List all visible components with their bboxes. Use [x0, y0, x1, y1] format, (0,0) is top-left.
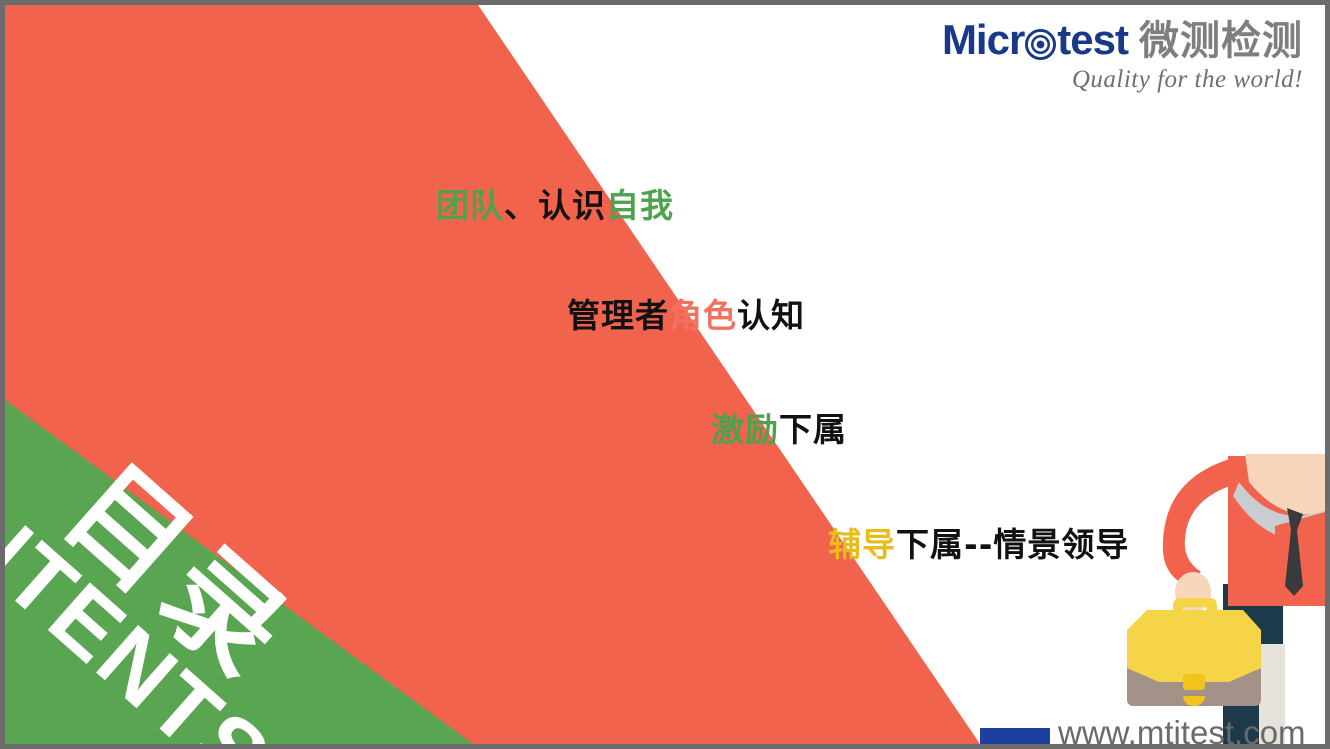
logo-ring-o-icon: [1025, 29, 1056, 60]
agenda-item-3-part-2: 下属: [779, 410, 847, 449]
footer-url[interactable]: www.mtitest.com: [1058, 714, 1306, 749]
logo-text-test: test: [1057, 19, 1128, 61]
businessman-illustration: [1125, 434, 1325, 744]
agenda-item-1[interactable]: 团队、认识自我: [436, 179, 674, 227]
logo-wordmark-latin: Micr test: [942, 19, 1128, 61]
agenda-item-1-part-3: 自我: [606, 186, 674, 225]
briefcase-flap-shape: [1127, 610, 1261, 682]
brand-logo: Micr test 微测检测 Quality for the world!: [942, 19, 1303, 92]
briefcase-clasp-shape: [1183, 674, 1205, 690]
agenda-item-2-part-2: 角色: [669, 296, 737, 335]
agenda-item-1-part-2: 、认识: [504, 186, 606, 225]
agenda-item-2-part-1: 管理者: [567, 296, 669, 335]
agenda-item-2[interactable]: 管理者角色认知: [567, 289, 805, 337]
logo-tagline: Quality for the world!: [942, 67, 1303, 92]
logo-wordmark-chinese: 微测检测: [1139, 21, 1303, 61]
agenda-item-4[interactable]: 辅导下属--情景领导: [828, 518, 1129, 566]
agenda-item-1-part-1: 团队: [436, 186, 504, 225]
agenda-item-3-part-1: 激励: [711, 410, 779, 449]
agenda-item-2-part-3: 认知: [737, 296, 805, 335]
footer-blue-bar: [980, 728, 1050, 745]
logo-wordmark-row: Micr test 微测检测: [942, 19, 1303, 61]
slide-canvas: 目录 CONTENTS Micr test 微测检测 Quality for t…: [0, 0, 1330, 749]
logo-text-micr: Micr: [942, 19, 1024, 61]
agenda-item-3[interactable]: 激励下属: [711, 403, 847, 451]
agenda-item-4-part-1: 辅导: [828, 525, 896, 564]
agenda-item-4-part-2: 下属--情景领导: [896, 525, 1129, 564]
